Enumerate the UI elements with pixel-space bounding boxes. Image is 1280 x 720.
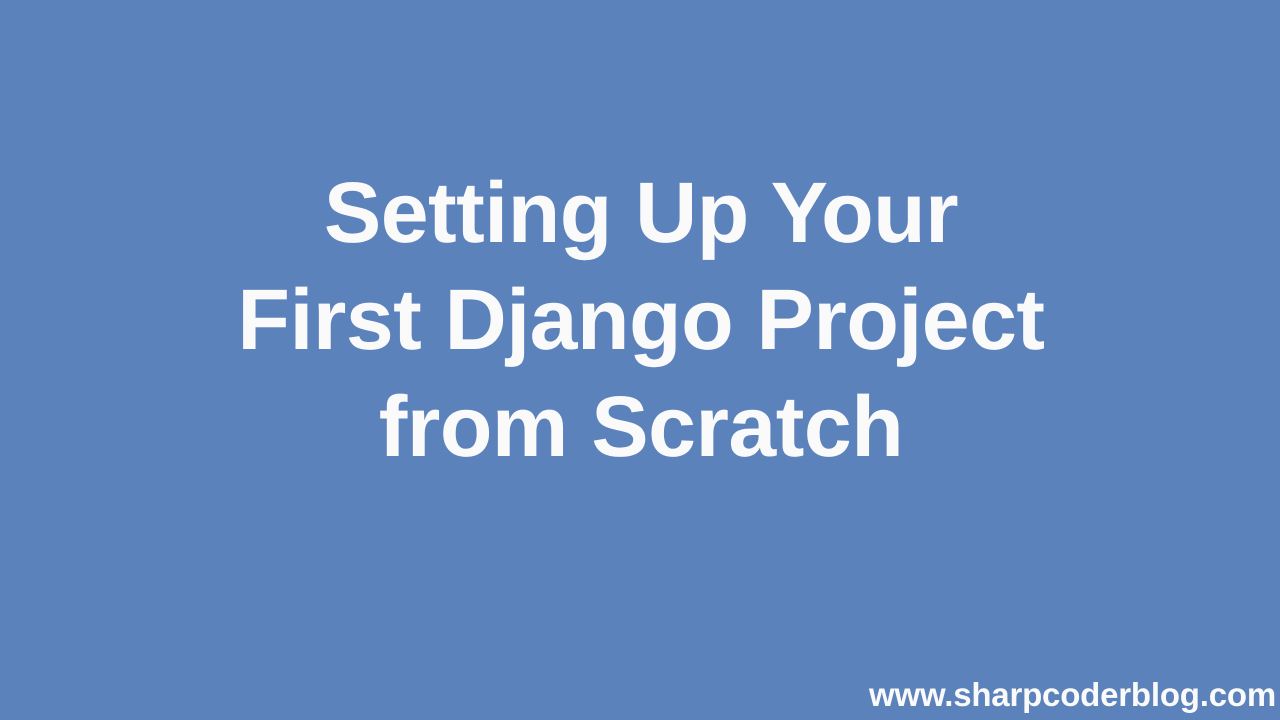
title-line-3: from Scratch (379, 374, 904, 481)
slide-canvas: Setting Up Your First Django Project fro… (0, 0, 1280, 720)
site-watermark: www.sharpcoderblog.com (869, 676, 1276, 714)
title-line-1: Setting Up Your (324, 160, 958, 267)
title-block: Setting Up Your First Django Project fro… (0, 0, 1280, 640)
title-line-2: First Django Project (237, 267, 1044, 374)
